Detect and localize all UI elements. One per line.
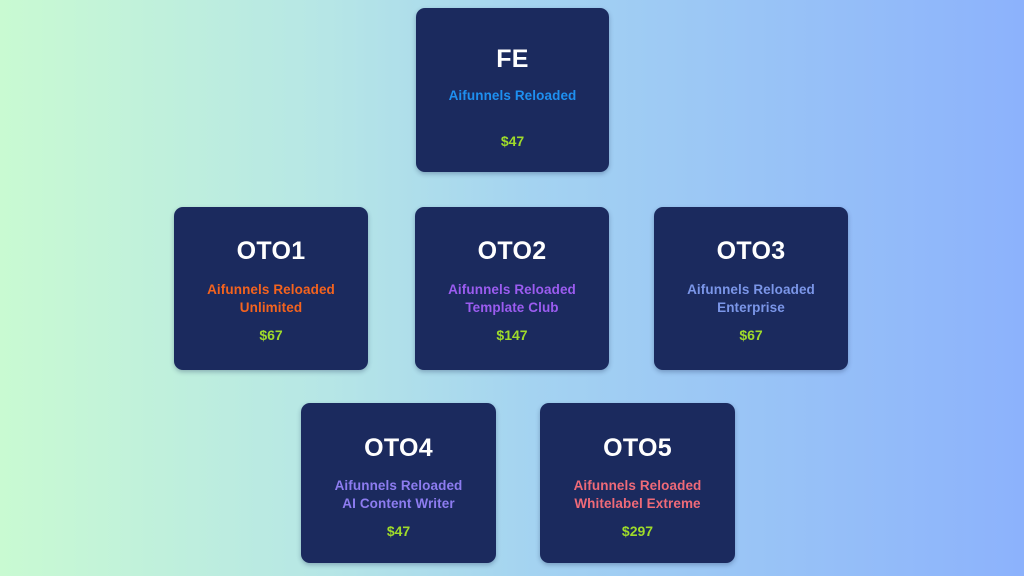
offer-subtitle-line-1: Aifunnels Reloaded (335, 477, 463, 495)
offer-title: FE (496, 47, 529, 72)
offer-subtitle: Aifunnels Reloaded Unlimited (207, 281, 335, 317)
offer-subtitle: Aifunnels Reloaded Template Club (448, 281, 576, 317)
offer-subtitle-line-1: Aifunnels Reloaded (448, 281, 576, 299)
offer-price: $47 (387, 524, 410, 538)
offer-subtitle-line-2: AI Content Writer (335, 495, 463, 513)
offer-title: OTO2 (478, 239, 547, 264)
offer-price: $297 (622, 524, 653, 538)
offer-subtitle: Aifunnels Reloaded (449, 87, 577, 105)
offer-subtitle-line-1: Aifunnels Reloaded (574, 477, 702, 495)
funnel-diagram: FE Aifunnels Reloaded $47 OTO1 Aifunnels… (0, 0, 1024, 576)
offer-title: OTO5 (603, 436, 672, 461)
offer-card-oto2[interactable]: OTO2 Aifunnels Reloaded Template Club $1… (415, 207, 609, 370)
offer-price: $47 (501, 134, 524, 148)
offer-subtitle-line-2: Template Club (448, 299, 576, 317)
offer-card-oto4[interactable]: OTO4 Aifunnels Reloaded AI Content Write… (301, 403, 496, 563)
offer-subtitle-line-1: Aifunnels Reloaded (687, 281, 815, 299)
offer-subtitle-line-2: Unlimited (207, 299, 335, 317)
offer-price: $67 (259, 328, 282, 342)
offer-subtitle: Aifunnels Reloaded AI Content Writer (335, 477, 463, 513)
offer-title: OTO4 (364, 436, 433, 461)
offer-card-oto1[interactable]: OTO1 Aifunnels Reloaded Unlimited $67 (174, 207, 368, 370)
offer-price: $67 (739, 328, 762, 342)
offer-subtitle: Aifunnels Reloaded Enterprise (687, 281, 815, 317)
offer-subtitle-line-1: Aifunnels Reloaded (449, 87, 577, 105)
offer-subtitle: Aifunnels Reloaded Whitelabel Extreme (574, 477, 702, 513)
offer-subtitle-line-2: Whitelabel Extreme (574, 495, 702, 513)
offer-title: OTO1 (237, 239, 306, 264)
offer-card-fe[interactable]: FE Aifunnels Reloaded $47 (416, 8, 609, 172)
offer-card-oto5[interactable]: OTO5 Aifunnels Reloaded Whitelabel Extre… (540, 403, 735, 563)
offer-price: $147 (496, 328, 527, 342)
offer-subtitle-line-1: Aifunnels Reloaded (207, 281, 335, 299)
offer-card-oto3[interactable]: OTO3 Aifunnels Reloaded Enterprise $67 (654, 207, 848, 370)
offer-title: OTO3 (717, 239, 786, 264)
offer-subtitle-line-2: Enterprise (687, 299, 815, 317)
